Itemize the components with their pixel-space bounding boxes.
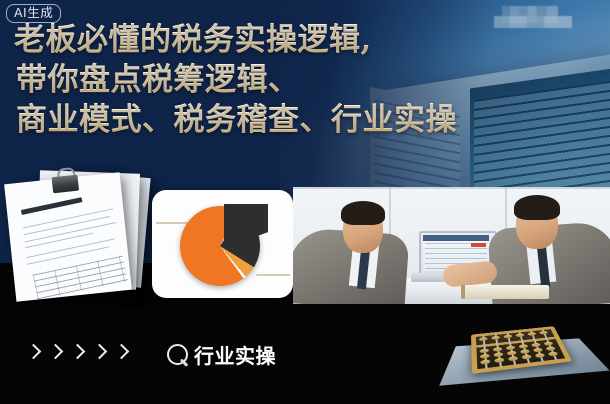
businessman-right-hair — [514, 195, 560, 220]
chevron-right-icon — [92, 344, 108, 360]
businessman-left-hair — [341, 201, 385, 225]
chevron-group — [28, 346, 127, 357]
laptop-screen-header — [423, 235, 489, 241]
page-title: 老板必懂的税务实操逻辑, 带你盘点税筹逻辑、 商业模式、税务稽查、行业实操 — [14, 20, 574, 140]
chevron-right-icon — [70, 344, 86, 360]
headline-line-1: 老板必懂的税务实操逻辑, — [14, 20, 574, 60]
binder-clip-icon — [51, 169, 79, 194]
headline-line-3: 商业模式、税务稽查、行业实操 — [14, 100, 574, 140]
search-icon — [166, 343, 190, 367]
pie-chart-card — [152, 190, 293, 298]
document-heading-line — [21, 197, 83, 215]
chevron-right-icon — [48, 344, 64, 360]
search-keyword-label: 行业实操 — [194, 340, 276, 369]
documents-photo — [2, 168, 148, 296]
chevron-right-icon — [114, 344, 130, 360]
search-keyword-group: 行业实操 — [166, 340, 276, 369]
poster-canvas: AI生成 老板必懂的税务实操逻辑, 带你盘点税筹逻辑、 商业模式、税务稽查、行业… — [0, 0, 610, 404]
laptop-screen-highlight — [471, 243, 486, 247]
handshake-photo — [293, 187, 610, 304]
notebook — [461, 285, 549, 299]
headline-line-2: 带你盘点税筹逻辑、 — [14, 60, 574, 100]
document-table — [33, 256, 128, 301]
chevron-right-icon — [26, 344, 42, 360]
pie-leader-line-right — [256, 274, 290, 276]
